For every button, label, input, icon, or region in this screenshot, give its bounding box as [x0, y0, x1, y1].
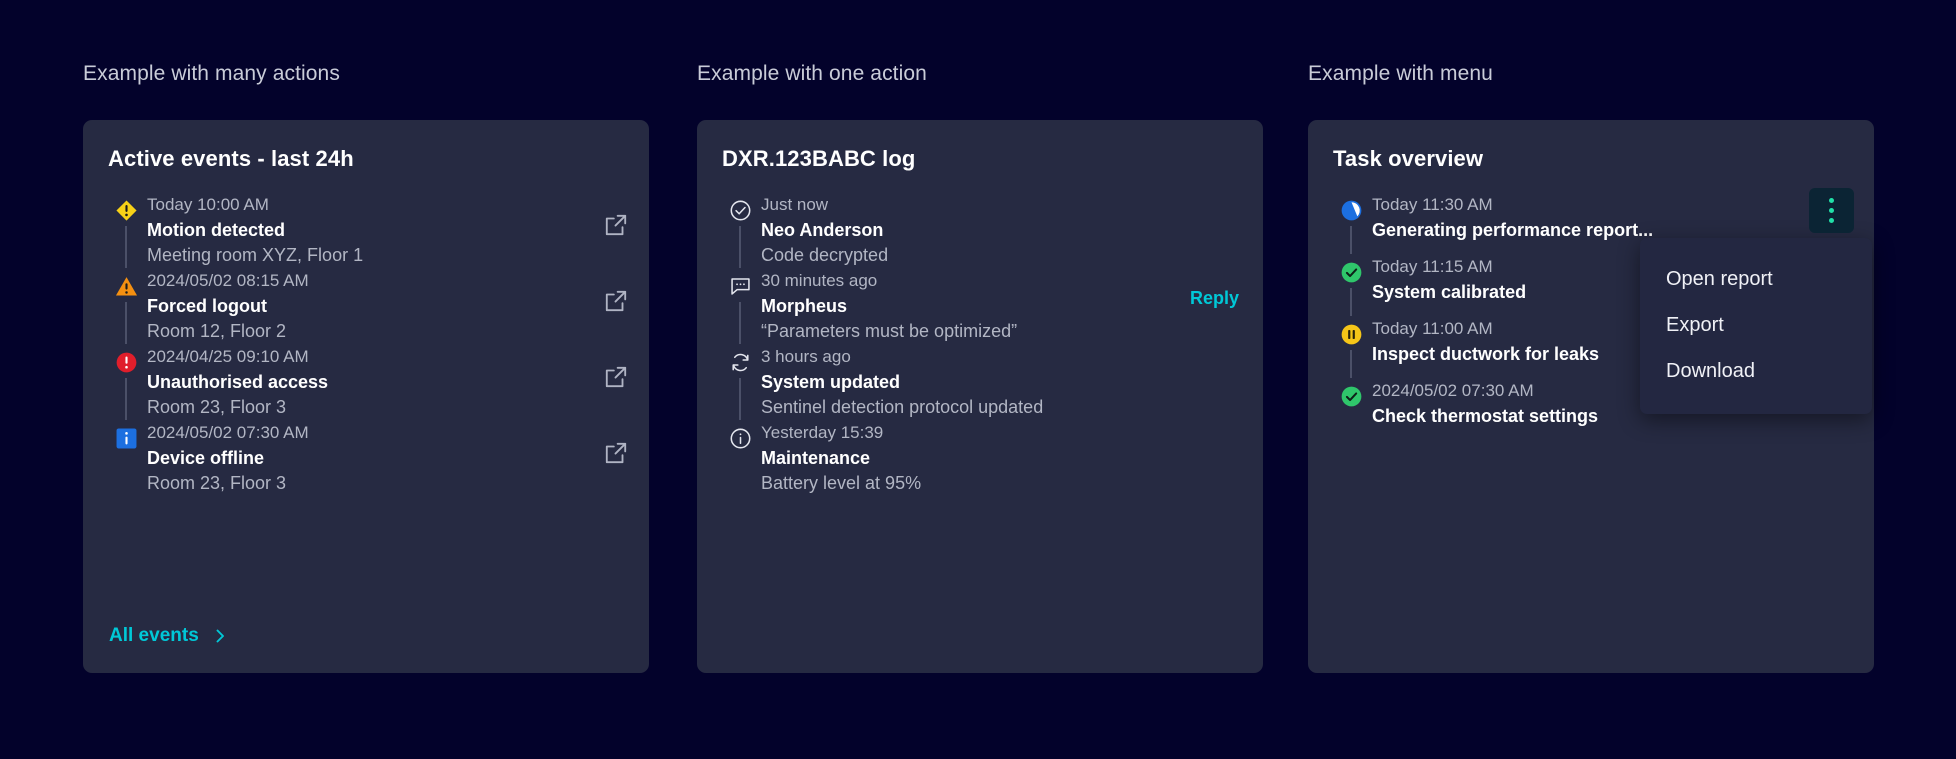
item-description: Room 23, Floor 3 [147, 395, 595, 420]
item-description: Sentinel detection protocol updated [761, 395, 1235, 420]
kebab-dot [1829, 218, 1834, 223]
column-caption: Example with menu [1308, 62, 1493, 86]
item-timestamp: Yesterday 15:39 [761, 422, 1235, 445]
item-description: Meeting room XYZ, Floor 1 [147, 243, 595, 268]
error-circle-icon [115, 351, 138, 374]
item-description: Battery level at 95% [761, 471, 1235, 496]
item-content: Today 11:30 AM Generating performance re… [1372, 194, 1854, 243]
card-task-overview: Task overview Open report Export Downloa… [1308, 120, 1874, 673]
item-title: Maintenance [761, 445, 1235, 471]
item-description: “Parameters must be optimized” [761, 319, 1182, 344]
card-title: Active events - last 24h [108, 146, 354, 172]
log-list: Just now Neo Anderson Code decrypted 3 [697, 194, 1263, 498]
external-link-icon[interactable] [603, 364, 629, 390]
item-content: 2024/04/25 09:10 AM Unauthorised access … [147, 346, 603, 420]
card-title: Task overview [1333, 146, 1483, 172]
item-content: 30 minutes ago Morpheus “Parameters must… [761, 270, 1190, 344]
item-title: System updated [761, 369, 1235, 395]
item-description: Room 23, Floor 3 [147, 471, 595, 496]
item-timestamp: 2024/04/25 09:10 AM [147, 346, 595, 369]
card-active-events: Active events - last 24h Today 10:00 AM … [83, 120, 649, 673]
warning-triangle-icon [115, 275, 138, 298]
item-rail [721, 270, 761, 346]
item-action-area [603, 194, 629, 238]
item-content: Yesterday 15:39 Maintenance Battery leve… [761, 422, 1243, 496]
external-link-icon[interactable] [603, 288, 629, 314]
rail-connector [1350, 350, 1352, 378]
item-content: Today 10:00 AM Motion detected Meeting r… [147, 194, 603, 268]
item-description: Room 12, Floor 2 [147, 319, 595, 344]
item-action-area [603, 270, 629, 314]
all-events-label: All events [109, 625, 199, 647]
item-content: Just now Neo Anderson Code decrypted [761, 194, 1243, 268]
item-rail [721, 194, 761, 270]
item-timestamp: Just now [761, 194, 1235, 217]
item-timestamp: Today 11:30 AM [1372, 194, 1846, 217]
menu-item-download[interactable]: Download [1640, 348, 1872, 394]
item-rail [1332, 256, 1372, 318]
rail-connector [739, 378, 741, 420]
column-one-action: Example with one action DXR.123BABC log … [697, 0, 1263, 759]
kebab-vertical-icon[interactable] [1809, 188, 1854, 233]
column-many-actions: Example with many actions Active events … [83, 0, 649, 759]
list-item[interactable]: 2024/04/25 09:10 AM Unauthorised access … [107, 346, 629, 422]
reply-button[interactable]: Reply [1190, 288, 1243, 309]
warning-diamond-icon [115, 199, 138, 222]
item-title: Morpheus [761, 293, 1182, 319]
list-item[interactable]: 30 minutes ago Morpheus “Parameters must… [721, 270, 1243, 346]
item-rail [1332, 318, 1372, 380]
item-action-area [603, 422, 629, 466]
menu-item-export[interactable]: Export [1640, 302, 1872, 348]
item-title: Device offline [147, 445, 595, 471]
item-title: Forced logout [147, 293, 595, 319]
list-item[interactable]: Just now Neo Anderson Code decrypted [721, 194, 1243, 270]
item-action-area: Reply [1190, 270, 1243, 309]
list-item[interactable]: Today 10:00 AM Motion detected Meeting r… [107, 194, 629, 270]
kebab-dot [1829, 198, 1834, 203]
kebab-dot [1829, 208, 1834, 213]
item-title: Unauthorised access [147, 369, 595, 395]
column-with-menu: Example with menu Task overview Open rep… [1308, 0, 1874, 759]
context-menu: Open report Export Download [1640, 238, 1872, 414]
rail-connector [739, 302, 741, 344]
item-title: Neo Anderson [761, 217, 1235, 243]
item-rail [721, 422, 761, 498]
item-title: Motion detected [147, 217, 595, 243]
paused-circle-icon [1340, 323, 1363, 346]
all-events-link[interactable]: All events [109, 625, 227, 647]
item-timestamp: 2024/05/02 08:15 AM [147, 270, 595, 293]
rail-connector [125, 226, 127, 268]
rail-connector [125, 378, 127, 420]
item-rail [107, 422, 147, 498]
item-content: 2024/05/02 07:30 AM Device offline Room … [147, 422, 603, 496]
card-device-log: DXR.123BABC log Just now Neo Anderson Co… [697, 120, 1263, 673]
list-item[interactable]: 2024/05/02 07:30 AM Device offline Room … [107, 422, 629, 498]
success-check-circle-icon [1340, 261, 1363, 284]
item-content: 2024/05/02 08:15 AM Forced logout Room 1… [147, 270, 603, 344]
screen-root: Example with many actions Active events … [0, 0, 1956, 759]
rail-connector [739, 226, 741, 268]
rail-connector [1350, 288, 1352, 316]
list-item[interactable]: 2024/05/02 08:15 AM Forced logout Room 1… [107, 270, 629, 346]
external-link-icon[interactable] [603, 212, 629, 238]
list-item[interactable]: Yesterday 15:39 Maintenance Battery leve… [721, 422, 1243, 498]
item-rail [107, 346, 147, 422]
column-caption: Example with one action [697, 62, 927, 86]
item-timestamp: Today 10:00 AM [147, 194, 595, 217]
item-timestamp: 2024/05/02 07:30 AM [147, 422, 595, 445]
item-action-area [603, 346, 629, 390]
rail-connector [1350, 226, 1352, 254]
info-square-icon [115, 427, 138, 450]
info-circle-outline-icon [729, 427, 752, 450]
item-description: Code decrypted [761, 243, 1235, 268]
success-check-circle-icon [1340, 385, 1363, 408]
item-rail [1332, 194, 1372, 256]
sync-refresh-icon [729, 351, 752, 374]
item-timestamp: 3 hours ago [761, 346, 1235, 369]
item-timestamp: 30 minutes ago [761, 270, 1182, 293]
card-title: DXR.123BABC log [722, 146, 915, 172]
event-list: Today 10:00 AM Motion detected Meeting r… [83, 194, 649, 498]
rail-connector [125, 302, 127, 344]
check-circle-outline-icon [729, 199, 752, 222]
external-link-icon[interactable] [603, 440, 629, 466]
chevron-right-icon [213, 629, 227, 643]
item-rail [107, 270, 147, 346]
in-progress-pie-icon [1340, 199, 1363, 222]
list-item[interactable]: 3 hours ago System updated Sentinel dete… [721, 346, 1243, 422]
column-caption: Example with many actions [83, 62, 340, 86]
chat-message-icon [729, 275, 752, 298]
item-rail [107, 194, 147, 270]
menu-item-open-report[interactable]: Open report [1640, 256, 1872, 302]
item-rail [1332, 380, 1372, 442]
item-content: 3 hours ago System updated Sentinel dete… [761, 346, 1243, 420]
item-rail [721, 346, 761, 422]
